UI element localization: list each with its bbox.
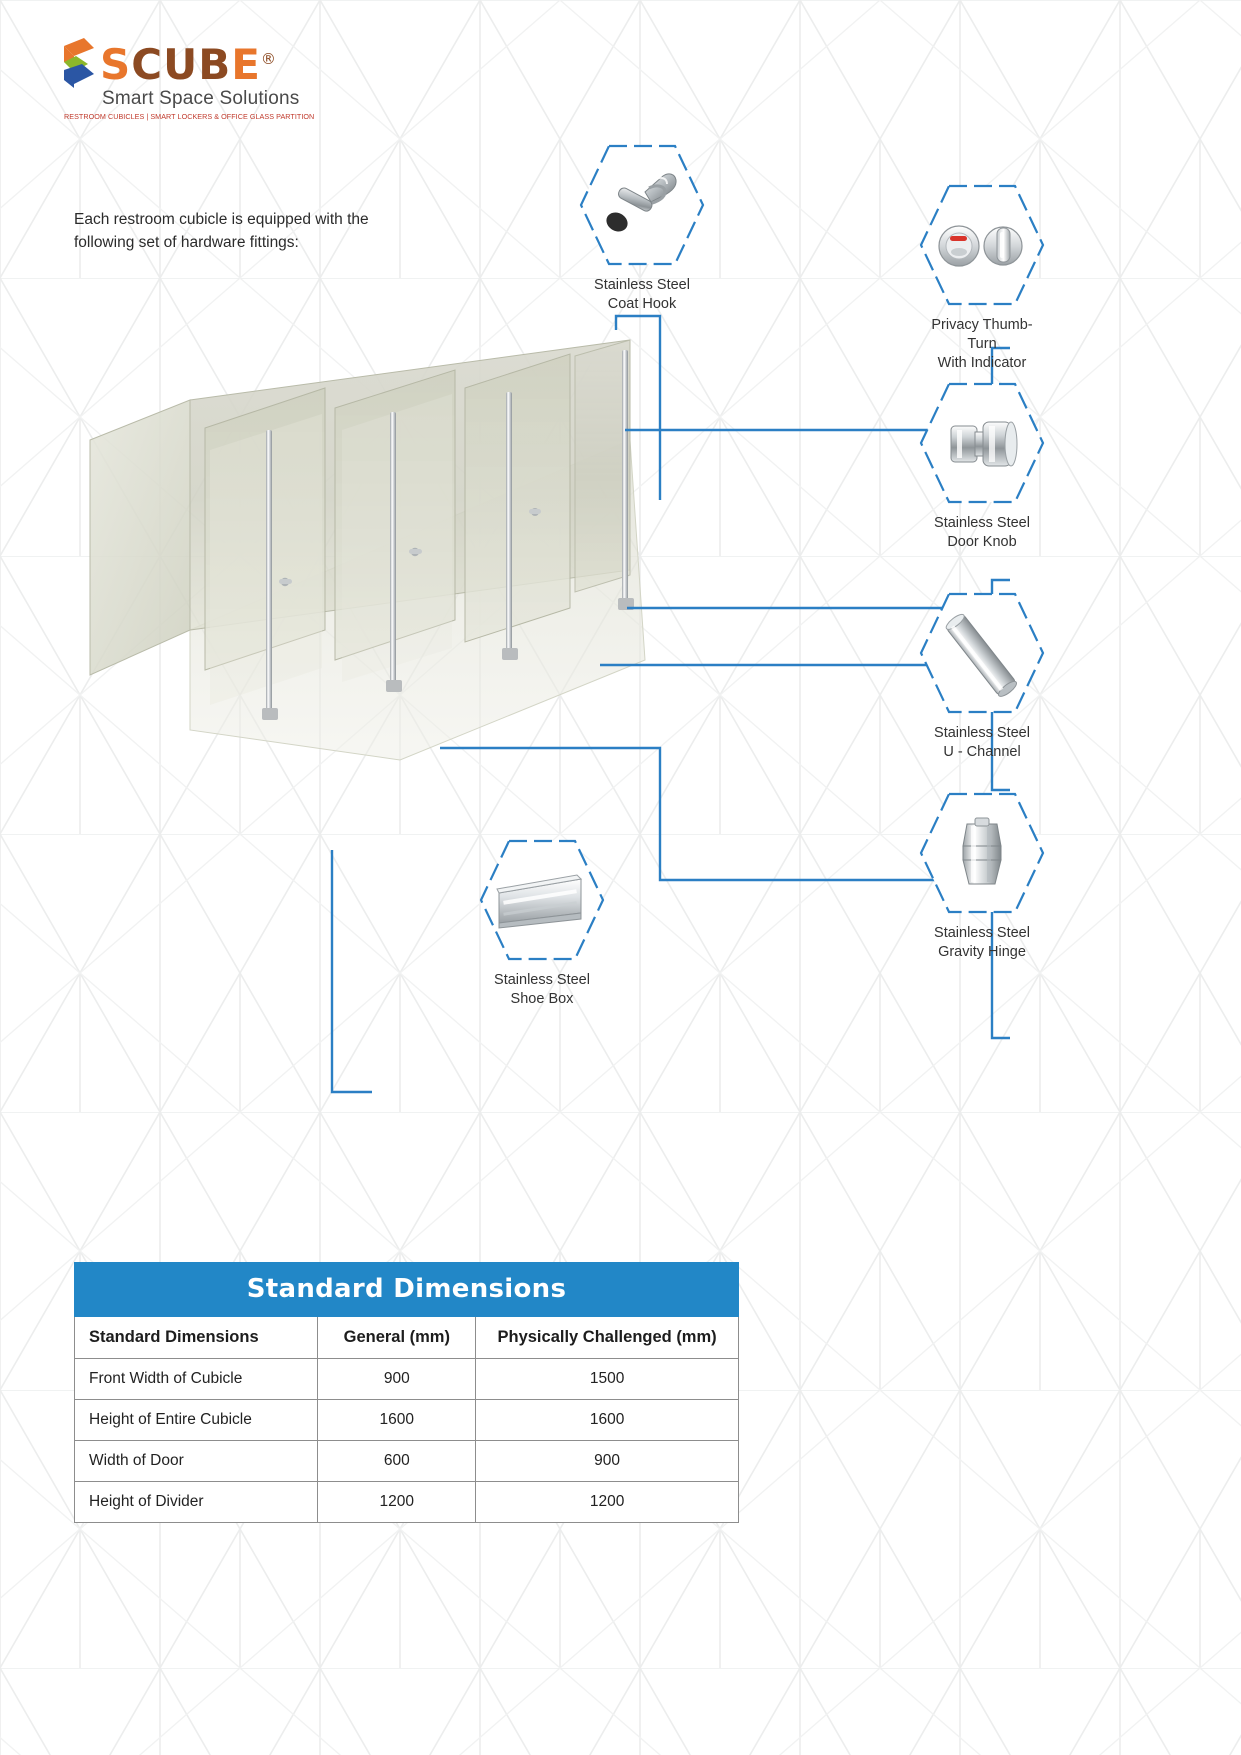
table-title: Standard Dimensions (75, 1263, 739, 1317)
column-header-dimension: Standard Dimensions (75, 1317, 318, 1359)
column-header-challenged: Physically Challenged (mm) (476, 1317, 739, 1359)
row-challenged: 1500 (476, 1359, 739, 1400)
brand-logo: SCUBE® Smart Space Solutions RESTROOM CU… (62, 36, 322, 121)
hardware-label-door-knob: Stainless Steel Door Knob (917, 514, 1047, 552)
hex-frame-thumb-turn (917, 180, 1047, 310)
row-general: 1200 (318, 1482, 476, 1523)
row-general: 1600 (318, 1400, 476, 1441)
row-challenged: 1200 (476, 1482, 739, 1523)
table-title-row: Standard Dimensions (75, 1263, 739, 1317)
u-channel-icon (917, 588, 1047, 718)
hardware-item-door-knob: Stainless Steel Door Knob (917, 378, 1047, 552)
logo-letter-c: C (131, 40, 163, 89)
table-row: Height of Divider 1200 1200 (75, 1482, 739, 1523)
row-label: Height of Divider (75, 1482, 318, 1523)
registered-mark-icon: ® (261, 50, 277, 68)
gravity-hinge-icon (917, 788, 1047, 918)
row-challenged: 1600 (476, 1400, 739, 1441)
logo-letter-u: U (163, 40, 198, 89)
standard-dimensions-table: Standard Dimensions Standard Dimensions … (74, 1262, 739, 1523)
brand-subtagline: RESTROOM CUBICLES | SMART LOCKERS & OFFI… (64, 112, 322, 121)
logo-letter-b: B (198, 40, 231, 89)
hardware-label-shoe-box: Stainless Steel Shoe Box (477, 971, 607, 1009)
coat-hook-icon (577, 140, 707, 270)
hardware-label-gravity-hinge: Stainless Steel Gravity Hinge (917, 924, 1047, 962)
intro-line-1: Each restroom cubicle is equipped with t… (74, 208, 404, 231)
intro-text: Each restroom cubicle is equipped with t… (74, 208, 404, 254)
table-row: Width of Door 600 900 (75, 1441, 739, 1482)
cubicle-illustration (70, 330, 690, 800)
shoe-box-icon (477, 835, 607, 965)
column-header-general: General (mm) (318, 1317, 476, 1359)
row-general: 600 (318, 1441, 476, 1482)
hex-frame-shoe-box (477, 835, 607, 965)
hardware-item-shoe-box: Stainless Steel Shoe Box (477, 835, 607, 1009)
hex-frame-gravity-hinge (917, 788, 1047, 918)
row-challenged: 900 (476, 1441, 739, 1482)
table-row: Height of Entire Cubicle 1600 1600 (75, 1400, 739, 1441)
row-label: Width of Door (75, 1441, 318, 1482)
intro-line-2: following set of hardware fittings: (74, 231, 404, 254)
row-label: Front Width of Cubicle (75, 1359, 318, 1400)
hardware-label-coat-hook: Stainless Steel Coat Hook (577, 276, 707, 314)
hardware-item-u-channel: Stainless Steel U - Channel (917, 588, 1047, 762)
door-knob-icon (917, 378, 1047, 508)
thumb-turn-indicator-icon (917, 180, 1047, 310)
table-header-row: Standard Dimensions General (mm) Physica… (75, 1317, 739, 1359)
hardware-label-thumb-turn: Privacy Thumb- Turn With Indicator (917, 316, 1047, 373)
hardware-item-gravity-hinge: Stainless Steel Gravity Hinge (917, 788, 1047, 962)
logo-letter-e: E (231, 40, 261, 89)
logo-mark-icon (62, 36, 96, 92)
hex-frame-door-knob (917, 378, 1047, 508)
row-general: 900 (318, 1359, 476, 1400)
hex-frame-u-channel (917, 588, 1047, 718)
table-row: Front Width of Cubicle 900 1500 (75, 1359, 739, 1400)
logo-wordmark: SCUBE® (100, 36, 277, 88)
hardware-item-coat-hook: Stainless Steel Coat Hook (577, 140, 707, 314)
brand-tagline: Smart Space Solutions (102, 88, 322, 110)
hardware-item-thumb-turn: Privacy Thumb- Turn With Indicator (917, 180, 1047, 373)
logo-letter-s: S (100, 40, 131, 89)
hex-frame-coat-hook (577, 140, 707, 270)
row-label: Height of Entire Cubicle (75, 1400, 318, 1441)
hardware-label-u-channel: Stainless Steel U - Channel (917, 724, 1047, 762)
